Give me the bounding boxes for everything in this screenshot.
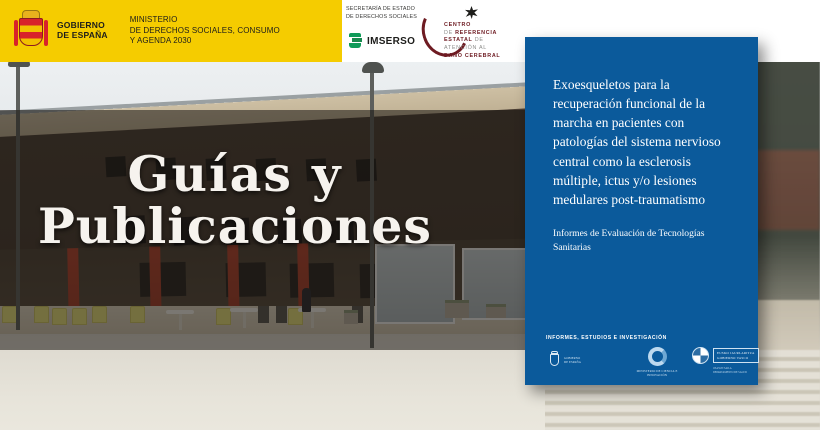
spain-coat-of-arms-icon: [14, 9, 48, 53]
shield-icon: [19, 18, 43, 46]
spain-shield-icon: [548, 351, 561, 369]
gov-line-2: DE ESPAÑA: [57, 31, 108, 41]
government-label: GOBIERNO DE ESPAÑA: [57, 21, 108, 40]
ceadac-line-2b: REFERENCIA: [455, 30, 497, 36]
publication-series: Informes de Evaluación de Tecnologías Sa…: [553, 227, 738, 255]
basque-line-1: EUSKO JAURLARITZA: [717, 351, 755, 356]
publication-title: Exoesqueletos para la recuperación funci…: [553, 75, 731, 209]
ministry-line-1: MINISTERIO: [130, 15, 280, 25]
ceadac-splat-icon: [465, 6, 478, 19]
page-title: Guías y Publicaciones: [0, 150, 470, 254]
ministry-line-2: DE DERECHOS SOCIALES, CONSUMO: [130, 26, 280, 36]
ceadac-line-2a: DE: [444, 30, 453, 36]
cover-gov-label: GOBIERNO DE ESPAÑA: [564, 356, 581, 364]
pillar-right: [44, 20, 48, 46]
ring-icon: [648, 347, 667, 366]
cover-basque-gov-logo: EUSKO JAURLARITZA GOBIERNO VASCO OSASUN …: [692, 347, 788, 375]
page-title-line-1: Guías y: [0, 150, 470, 199]
secretary-line-1: SECRETARÍA DE ESTADO: [346, 6, 417, 14]
basque-logo-row: EUSKO JAURLARITZA GOBIERNO VASCO: [692, 347, 788, 364]
pillar-left: [14, 20, 18, 46]
ceadac-line-5: DAÑO CEREBRAL: [444, 53, 500, 59]
basque-label-box: EUSKO JAURLARITZA GOBIERNO VASCO: [713, 348, 759, 364]
secretary-of-state-label: SECRETARÍA DE ESTADO DE DERECHOS SOCIALE…: [346, 6, 417, 22]
cover-ministry-label: MINISTERIO DE CIENCIA E INNOVACIÓN: [630, 369, 684, 377]
publication-cover[interactable]: Exoesqueletos para la recuperación funci…: [525, 37, 758, 385]
cover-gov-line-2: DE ESPAÑA: [564, 360, 581, 364]
publication-banner: GOBIERNO DE ESPAÑA MINISTERIO DE DERECHO…: [0, 0, 820, 430]
imserso-logo: IMSERSO: [348, 33, 415, 50]
ministry-label: MINISTERIO DE DERECHOS SOCIALES, CONSUMO…: [130, 15, 280, 46]
ceadac-logo: CENTRO DE REFERENCIA ESTATAL DE ATENCIÓN…: [422, 3, 530, 59]
ceadac-line-3b: DE: [475, 37, 484, 43]
page-title-line-2: Publicaciones: [0, 199, 470, 254]
basque-line-2: GOBIERNO VASCO: [717, 356, 755, 361]
ceadac-line-3a: ESTATAL: [444, 37, 473, 43]
secretary-line-2: DE DERECHOS SOCIALES: [346, 14, 417, 22]
lamp-head: [362, 62, 384, 73]
cover-gov-logo: GOBIERNO DE ESPAÑA: [548, 349, 594, 371]
government-header-bar: GOBIERNO DE ESPAÑA MINISTERIO DE DERECHO…: [0, 0, 342, 62]
publication-collection-label: INFORMES, ESTUDIOS E INVESTIGACIÓN: [546, 335, 667, 341]
imserso-mark-icon: [348, 33, 363, 50]
imserso-label: IMSERSO: [367, 36, 415, 47]
basque-sub-line-2: DEPARTAMENTO DE SALUD: [713, 371, 788, 375]
publication-footer-logos: GOBIERNO DE ESPAÑA MINISTERIO DE CIENCIA…: [546, 345, 742, 377]
ministry-line-3: Y AGENDA 2030: [130, 36, 280, 46]
ceadac-text: CENTRO DE REFERENCIA ESTATAL DE ATENCIÓN…: [444, 22, 500, 60]
basque-dept-label: OSASUN SAILA DEPARTAMENTO DE SALUD: [713, 367, 788, 375]
ceadac-line-1: CENTRO: [444, 22, 471, 28]
ceadac-line-4: ATENCIÓN AL: [444, 45, 487, 51]
cover-ministry-logo: MINISTERIO DE CIENCIA E INNOVACIÓN: [630, 347, 684, 377]
basque-emblem-icon: [692, 347, 709, 364]
